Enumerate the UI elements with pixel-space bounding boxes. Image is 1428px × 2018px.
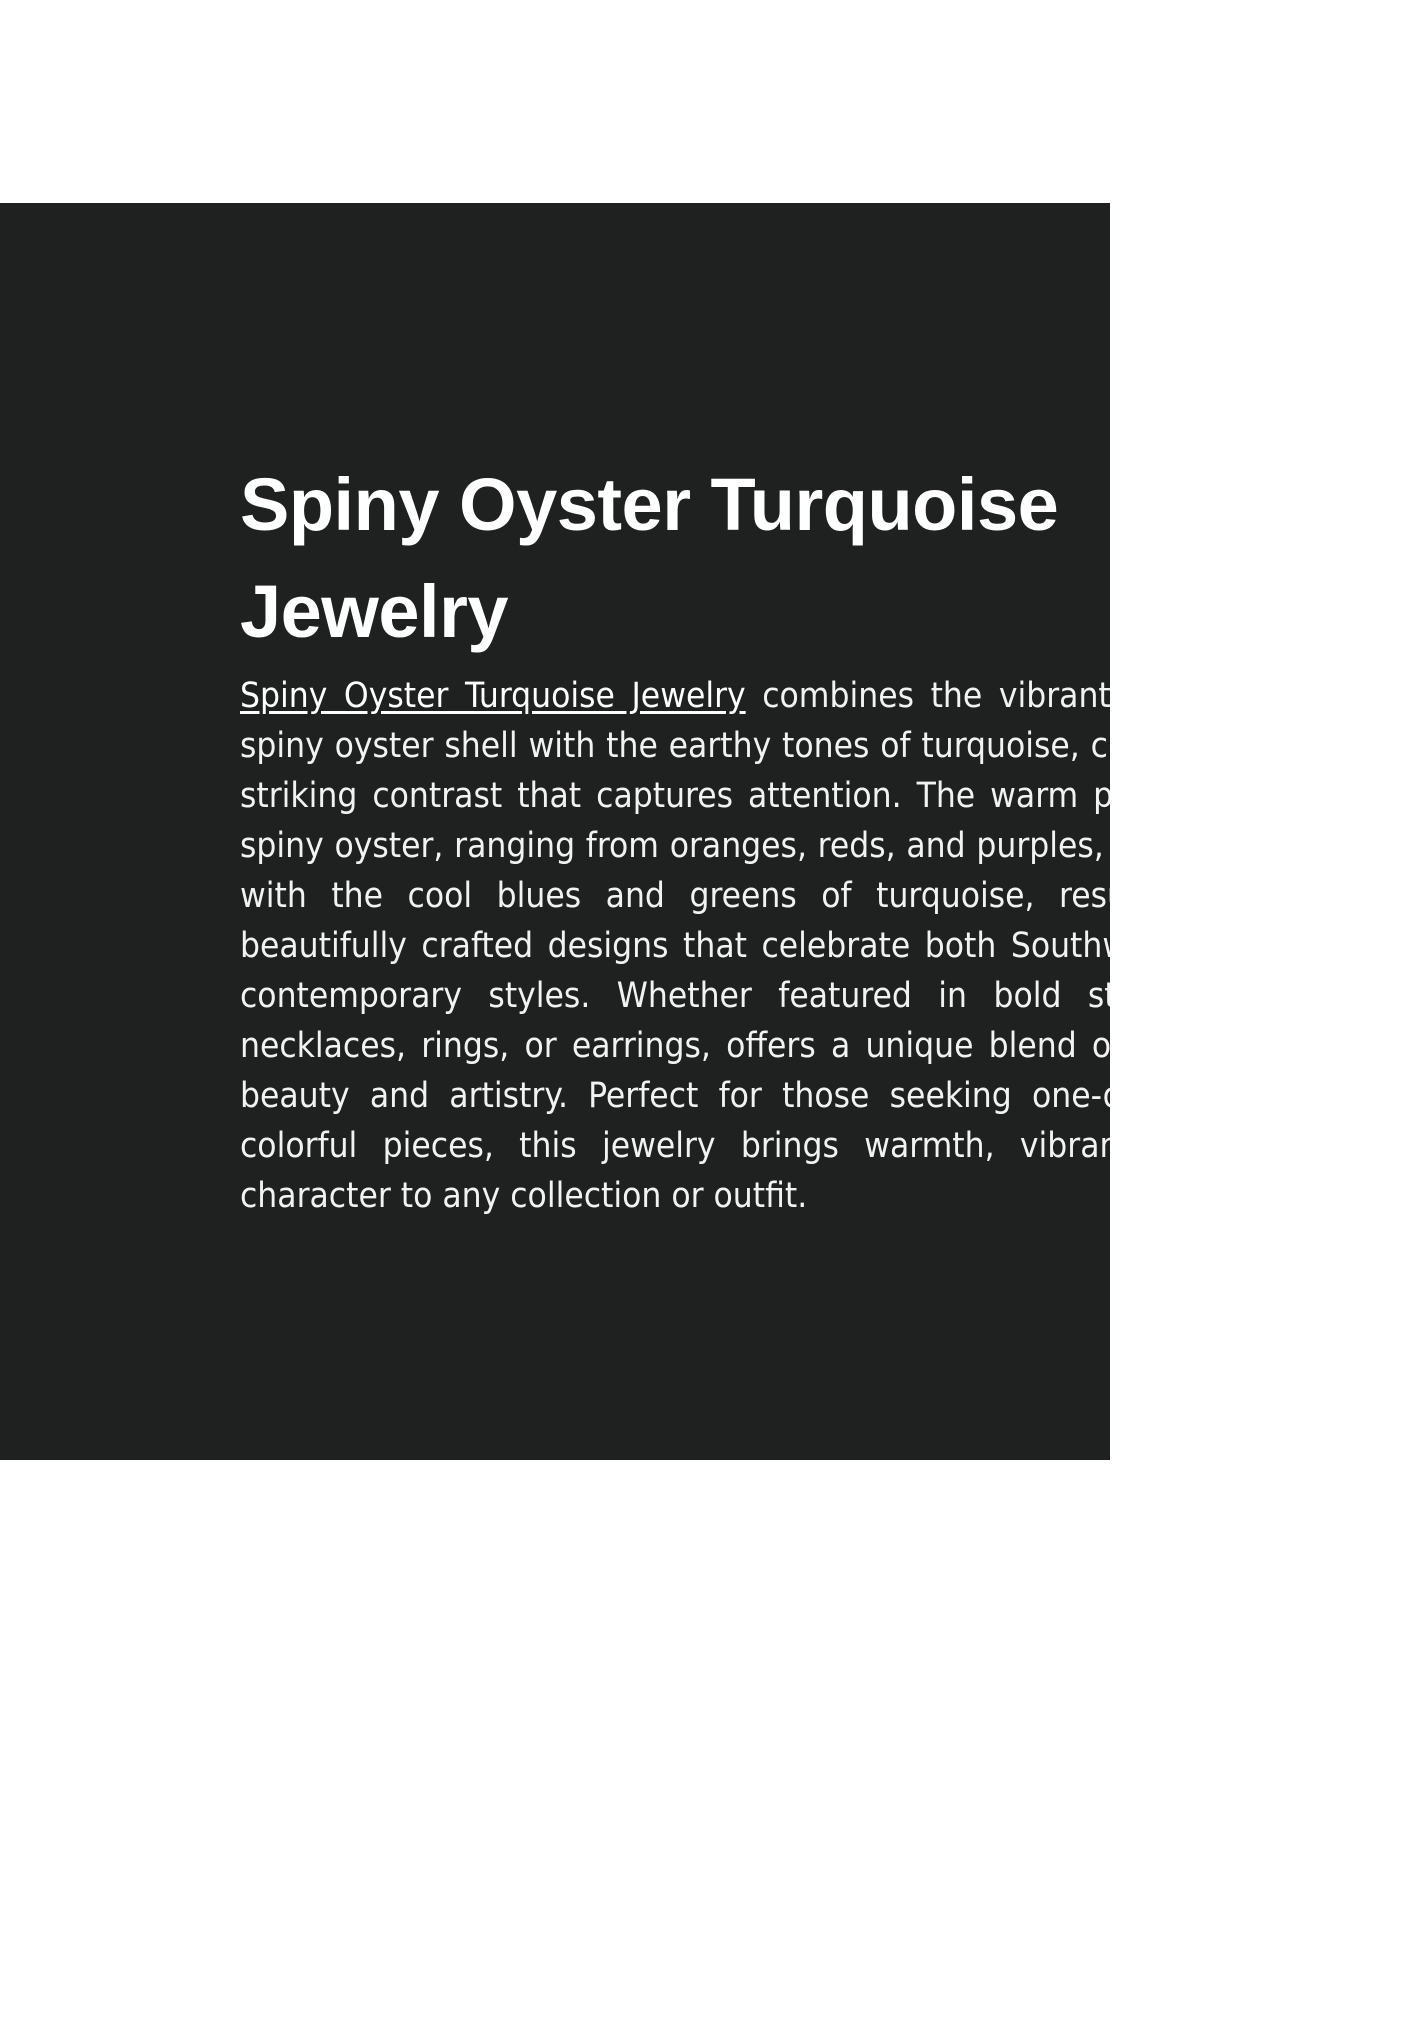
article-inline-link[interactable]: Spiny Oyster Turquoise Jewelry <box>240 676 746 716</box>
article-body-paragraph: Spiny Oyster Turquoise Jewelry combines … <box>240 671 1110 1221</box>
page-title: Spiny Oyster Turquoise Jewelry <box>240 451 1110 666</box>
article-dark-panel: Spiny Oyster Turquoise Jewelry Spiny Oys… <box>0 203 1110 1460</box>
article-body-text: combines the vibrant hues of spiny oyste… <box>240 676 1110 1216</box>
